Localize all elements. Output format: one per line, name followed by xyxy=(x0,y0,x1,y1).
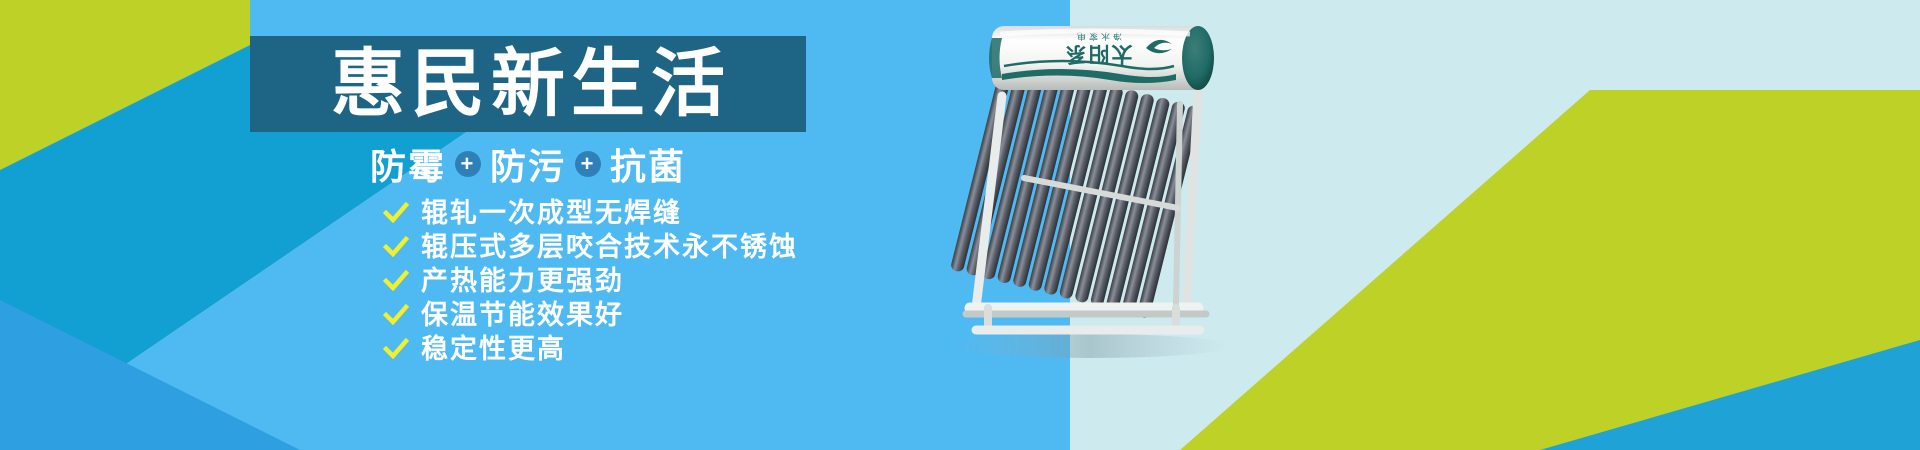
list-item: 稳定性更高 xyxy=(383,332,798,366)
storage-tank: 太阳系 净水家电 xyxy=(989,26,1214,90)
check-icon xyxy=(383,302,409,328)
feature-label: 保温节能效果好 xyxy=(421,302,624,329)
product-shadow xyxy=(950,334,1230,358)
feature-label: 辊压式多层咬合技术永不锈蚀 xyxy=(421,234,798,261)
plus-badge-1: + xyxy=(455,151,481,177)
feature-label: 辊轧一次成型无焊缝 xyxy=(421,200,682,227)
tank-brand-text: 太阳系 xyxy=(1064,42,1133,65)
list-item: 保温节能效果好 xyxy=(383,298,798,332)
feature-label: 产热能力更强劲 xyxy=(421,268,624,295)
list-item: 辊压式多层咬合技术永不锈蚀 xyxy=(383,230,798,264)
subtitle-text: 防霉 + 防污 + 抗菌 xyxy=(370,138,686,190)
check-icon xyxy=(383,336,409,362)
promo-banner: 惠民新生活 防霉 + 防污 + 抗菌 辊轧一次成型无焊缝 xyxy=(0,0,1920,450)
subtitle-part-2: 防污 xyxy=(490,138,566,190)
check-icon xyxy=(383,234,409,260)
product-image-solar-water-heater: 太阳系 净水家电 xyxy=(940,8,1270,358)
feature-label: 稳定性更高 xyxy=(421,336,566,363)
subtitle-part-1: 防霉 xyxy=(370,138,446,190)
list-item: 产热能力更强劲 xyxy=(383,264,798,298)
check-icon xyxy=(383,268,409,294)
list-item: 辊轧一次成型无焊缝 xyxy=(383,196,798,230)
plus-badge-2: + xyxy=(575,151,601,177)
feature-list: 辊轧一次成型无焊缝 辊压式多层咬合技术永不锈蚀 产热能力更强劲 xyxy=(383,196,798,366)
page-title: 惠民新生活 xyxy=(325,47,731,121)
subtitle: 防霉 + 防污 + 抗菌 xyxy=(250,140,806,188)
check-icon xyxy=(383,200,409,226)
subtitle-part-3: 抗菌 xyxy=(610,138,686,190)
title-banner: 惠民新生活 xyxy=(250,36,806,132)
